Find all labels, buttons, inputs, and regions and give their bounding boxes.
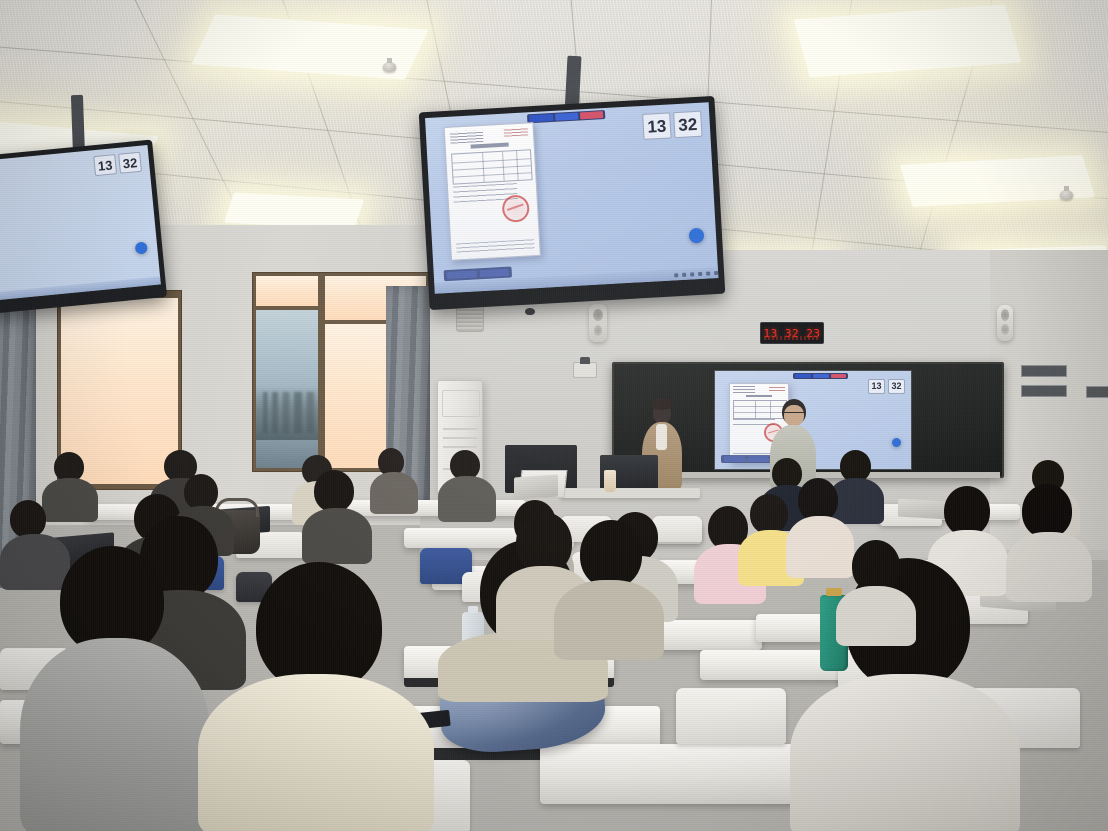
audience-person xyxy=(20,546,210,831)
action-button-2[interactable] xyxy=(479,269,509,278)
clock-minute: 32 xyxy=(673,111,702,139)
document-stamp-header xyxy=(769,386,784,391)
screen-toolbar[interactable] xyxy=(527,110,605,123)
clock-hour: 13 xyxy=(642,112,671,140)
smoke-detector-icon xyxy=(383,62,396,72)
taskbar-icon[interactable] xyxy=(690,272,694,276)
clock-minute: 32 xyxy=(118,152,142,174)
clock-hour: 13 xyxy=(868,379,885,394)
audience-person xyxy=(554,520,664,650)
floating-action-button[interactable] xyxy=(135,242,148,255)
person-head xyxy=(944,486,990,536)
screen-clock: 13 32 xyxy=(93,152,142,176)
chair[interactable] xyxy=(676,688,786,744)
coffee-cup xyxy=(604,470,616,492)
audience-person xyxy=(302,470,372,558)
clock-minute: 32 xyxy=(888,379,905,394)
person-head xyxy=(1022,484,1072,538)
person-head xyxy=(184,474,218,510)
screen-clock: 13 32 xyxy=(868,379,905,394)
person-body xyxy=(554,580,664,660)
floating-action-button[interactable] xyxy=(689,228,705,244)
led-clock-label xyxy=(764,336,818,340)
wall-panel xyxy=(1021,365,1067,377)
document-preview[interactable] xyxy=(444,122,541,261)
smoke-detector-icon xyxy=(1060,190,1073,200)
person-head xyxy=(314,470,354,512)
toolbar-button-1[interactable] xyxy=(795,374,811,378)
wall-vent xyxy=(456,306,484,332)
screen-toolbar[interactable] xyxy=(793,373,848,379)
document-header xyxy=(733,386,784,393)
screen-clock: 13 32 xyxy=(642,111,702,140)
person-body xyxy=(302,508,372,564)
document-header xyxy=(450,127,528,143)
person-head xyxy=(580,520,642,588)
side-tv-bezel: 13 32 xyxy=(0,140,167,319)
front-desk xyxy=(560,488,700,498)
wall-panel xyxy=(1086,386,1108,398)
audience-person xyxy=(370,448,418,512)
side-tv-screen[interactable]: 13 32 xyxy=(0,145,161,305)
document-stamp-header xyxy=(504,127,528,137)
person-head xyxy=(750,494,788,534)
person-body xyxy=(370,472,418,514)
clock-hour: 13 xyxy=(93,154,117,176)
action-button-1[interactable] xyxy=(724,456,745,461)
document-title-line xyxy=(470,143,509,149)
person-head xyxy=(852,540,900,592)
audience-person xyxy=(438,450,496,518)
taskbar-icon[interactable] xyxy=(698,272,702,276)
toolbar-button-2[interactable] xyxy=(555,113,579,121)
person-head xyxy=(10,500,46,538)
taskbar-icon[interactable] xyxy=(706,271,710,275)
document-footer-text xyxy=(456,239,534,254)
wall-panel xyxy=(1021,385,1067,397)
audience-person xyxy=(198,562,434,831)
person-body xyxy=(198,674,434,831)
action-button-1[interactable] xyxy=(447,270,477,279)
wall-speaker xyxy=(589,304,607,342)
ceiling-camera-icon xyxy=(525,308,535,315)
taskbar-icon[interactable] xyxy=(714,271,718,275)
person-body xyxy=(836,586,916,646)
toolbar-button-3[interactable] xyxy=(831,374,847,378)
ceiling-tv-screen[interactable]: 13 32 xyxy=(425,102,718,294)
toolbar-button-2[interactable] xyxy=(813,374,829,378)
institution-logo xyxy=(733,386,754,393)
document-table xyxy=(451,150,532,185)
glasses-icon xyxy=(784,412,804,417)
floating-action-button[interactable] xyxy=(892,438,901,447)
window-blind xyxy=(256,276,318,306)
institution-logo xyxy=(450,130,483,144)
window-glass xyxy=(256,310,318,468)
projector-mount-box xyxy=(573,362,597,378)
person-head xyxy=(256,562,382,692)
person-body xyxy=(438,476,496,522)
person-body xyxy=(20,638,210,831)
ceiling-tv-bezel: 13 32 xyxy=(419,96,726,310)
taskbar-icon[interactable] xyxy=(674,273,678,277)
toolbar-button-1[interactable] xyxy=(529,114,553,122)
classroom-photo: 13 32 xyxy=(0,0,1108,831)
person-body xyxy=(790,674,1020,831)
toolbar-button-3[interactable] xyxy=(580,111,604,119)
ac-grill xyxy=(442,390,479,417)
skyline-view xyxy=(260,392,315,433)
audience-person xyxy=(836,540,916,636)
wall-speaker xyxy=(997,305,1013,341)
laptop[interactable] xyxy=(514,474,558,499)
wall-led-clock: 13 32 23 xyxy=(760,322,824,344)
taskbar-icon[interactable] xyxy=(682,272,686,276)
presenter-female-shirt xyxy=(656,424,667,450)
document-title-line xyxy=(746,395,772,397)
presenter-female-hair xyxy=(651,398,673,410)
